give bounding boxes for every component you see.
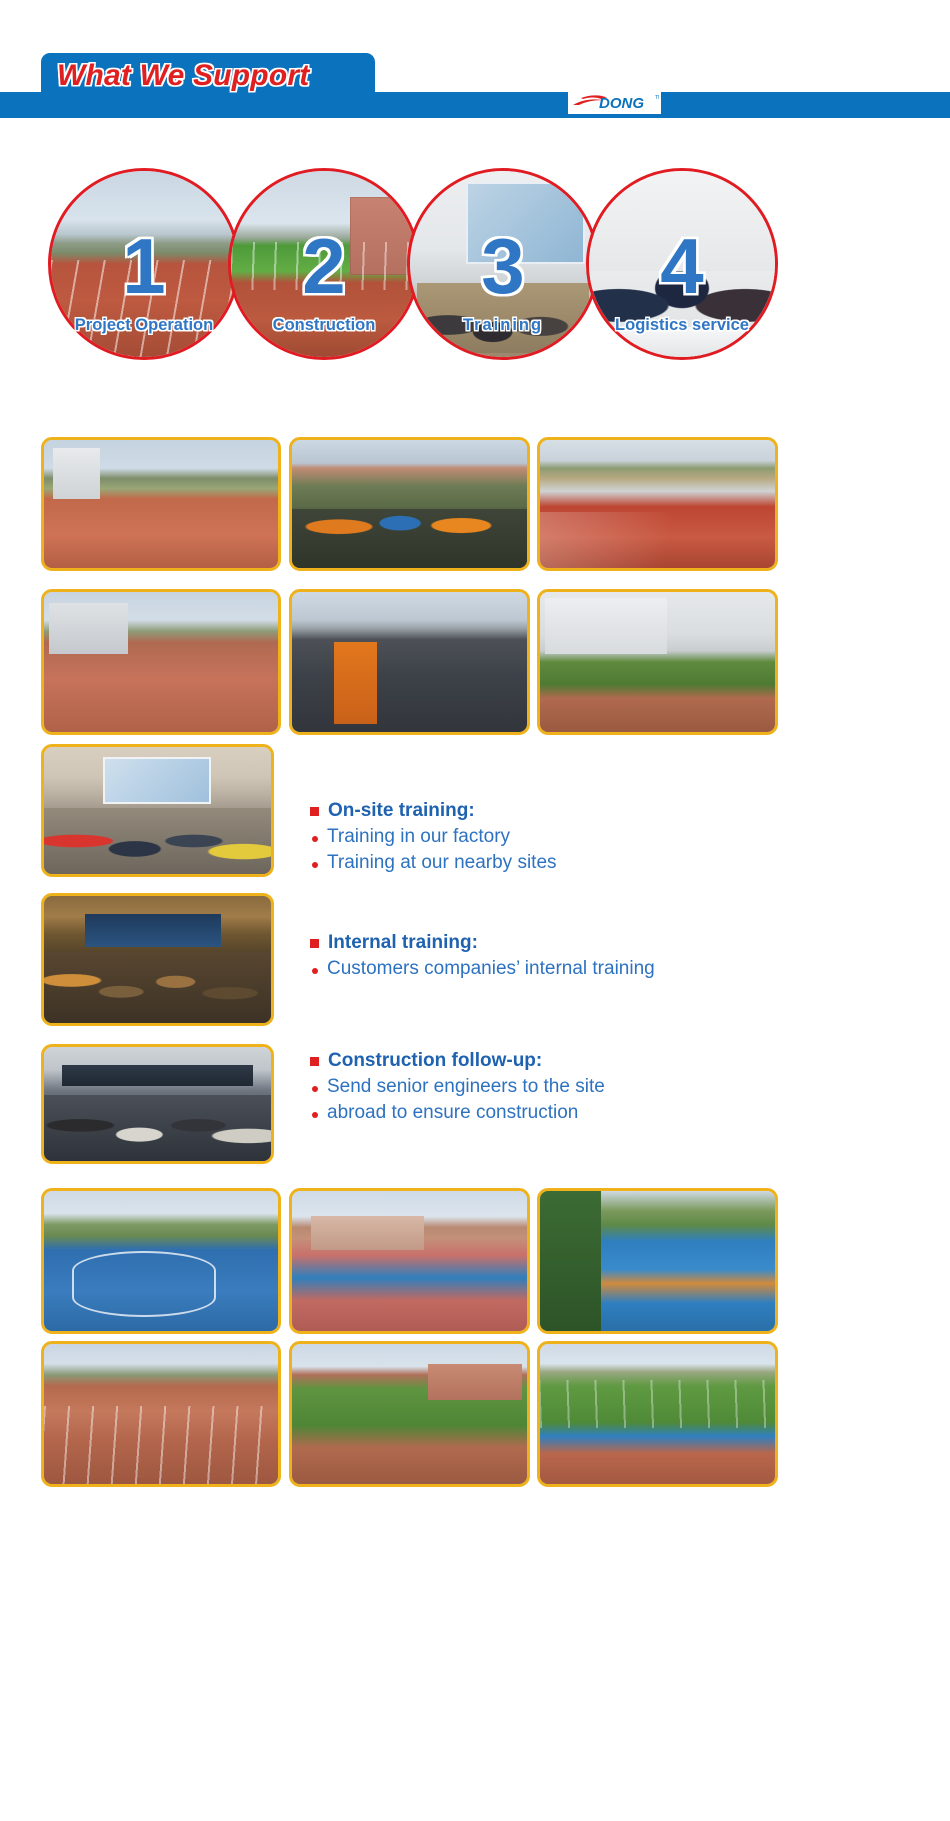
project-photo-5-image [292,1344,527,1484]
construction-photo-6[interactable] [537,589,778,735]
page-title: What We Support [57,59,377,93]
square-bullet-icon [310,807,319,816]
construction-photo-2-image [292,440,527,568]
training-photo-2[interactable] [41,893,274,1026]
step-1-number: 1 [51,227,237,305]
training-photo-3-image [44,1047,271,1161]
construction-photo-5-image [292,592,527,732]
dong-logo-icon: DONG TM [571,92,659,112]
training-section-1-bullet-2: Training at our nearby sites [327,852,557,874]
training-photo-1-image [44,747,271,874]
training-photo-2-image [44,896,271,1023]
training-section-1: On-site training: Training in our factor… [310,800,557,874]
project-photo-1-image [44,1191,278,1331]
step-4-label: Logistics service [586,316,778,335]
training-section-3-bullet-2: abroad to ensure construction [327,1102,578,1124]
project-photo-4-image [44,1344,278,1484]
construction-photo-4-image [44,592,278,732]
construction-photo-2[interactable] [289,437,530,571]
construction-photo-3-image [540,440,775,568]
svg-text:TM: TM [655,95,659,101]
training-section-3-bullet-2-row: abroad to ensure construction [310,1102,605,1124]
training-section-3-bullet-1-row: Send senior engineers to the site [310,1076,605,1098]
step-1-label: Project Operation [48,316,240,335]
construction-photo-4[interactable] [41,589,281,735]
training-photo-1[interactable] [41,744,274,877]
dot-bullet-icon [312,836,318,842]
step-3-label: Training [407,316,599,335]
training-section-2-heading: Internal training: [328,932,478,954]
training-section-1-bullet-1-row: Training in our factory [310,826,557,848]
project-photo-1[interactable] [41,1188,281,1334]
dot-bullet-icon [312,1112,318,1118]
training-section-1-bullet-1: Training in our factory [327,826,510,848]
construction-photo-6-image [540,592,775,732]
training-section-1-bullet-2-row: Training at our nearby sites [310,852,557,874]
construction-photo-1-image [44,440,278,568]
project-photo-6[interactable] [537,1341,778,1487]
training-section-2-bullet-1: Customers companies’ internal training [327,958,655,980]
training-section-2: Internal training: Customers companies’ … [310,932,655,980]
square-bullet-icon [310,1057,319,1066]
step-3-number: 3 [410,227,596,305]
dot-bullet-icon [312,968,318,974]
training-section-2-bullet-1-row: Customers companies’ internal training [310,958,655,980]
training-section-3: Construction follow-up: Send senior engi… [310,1050,605,1124]
dot-bullet-icon [312,1086,318,1092]
training-photo-3[interactable] [41,1044,274,1164]
square-bullet-icon [310,939,319,948]
training-section-2-heading-row: Internal training: [310,932,655,954]
step-2-label: Construction [228,316,420,335]
training-section-1-heading-row: On-site training: [310,800,557,822]
dot-bullet-icon [312,862,318,868]
project-photo-4[interactable] [41,1341,281,1487]
training-section-3-heading-row: Construction follow-up: [310,1050,605,1072]
training-section-1-heading: On-site training: [328,800,475,822]
company-logo: DONG TM [568,90,661,114]
project-photo-3[interactable] [537,1188,778,1334]
project-photo-3-image [540,1191,775,1331]
training-section-3-heading: Construction follow-up: [328,1050,542,1072]
project-photo-2[interactable] [289,1188,530,1334]
svg-text:DONG: DONG [599,95,644,112]
project-photo-6-image [540,1344,775,1484]
step-4-number: 4 [589,227,775,305]
training-section-3-bullet-1: Send senior engineers to the site [327,1076,605,1098]
support-steps: 1 Project Operation 2 Construction 3 Tra… [0,168,950,360]
construction-photo-5[interactable] [289,589,530,735]
construction-photo-1[interactable] [41,437,281,571]
project-photo-2-image [292,1191,527,1331]
project-photo-5[interactable] [289,1341,530,1487]
construction-photo-3[interactable] [537,437,778,571]
step-2-number: 2 [231,227,417,305]
